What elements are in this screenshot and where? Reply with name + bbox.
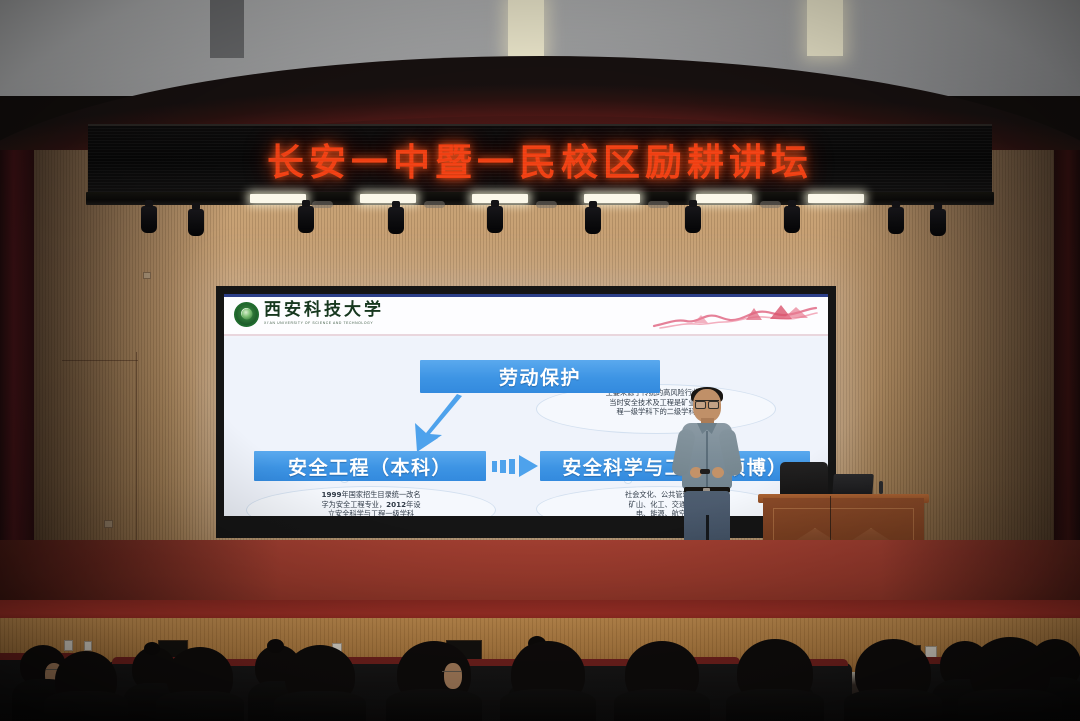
arrow-down-left-icon — [404, 393, 470, 455]
truss-clamp-3 — [536, 201, 557, 208]
truss-led-strip-5 — [696, 194, 752, 203]
callout-bl-line3: 立安全科学与工程一级学科 — [246, 509, 496, 516]
truss-clamp-2 — [424, 201, 445, 208]
callout-bl-line1-rest: 年国家招生目录统一改名 — [341, 490, 420, 499]
callout-br-line1: 社会文化、公共管理、 — [536, 490, 786, 500]
ceiling-light-slot-dark — [210, 0, 244, 58]
led-banner-text: 长安一中暨一民校区励耕讲坛 — [267, 132, 813, 186]
slide-box-safety-engineering: 安全工程（本科） — [254, 451, 486, 481]
stage-spotlight-10 — [930, 209, 946, 236]
mountain-landscape-icon — [650, 302, 818, 332]
wall-switch-left-2 — [84, 641, 92, 651]
university-emblem-icon — [234, 302, 259, 327]
presenter-clicker-remote — [700, 469, 710, 474]
presenter-glasses-icon — [695, 400, 719, 406]
audience-body — [958, 689, 1062, 721]
truss-led-strip-2 — [360, 194, 416, 203]
truss-led-strip-6 — [808, 194, 864, 203]
audience-face — [444, 663, 462, 689]
stage-chair — [780, 462, 828, 498]
truss-clamp-1 — [312, 201, 333, 208]
podium-microphone — [879, 481, 883, 494]
ceiling-light-slot-1 — [508, 0, 544, 56]
audience-glasses-icon — [442, 671, 462, 674]
stage-spotlight-1 — [141, 206, 157, 233]
callout-bl-line1: 1999年国家招生目录统一改名 — [246, 490, 496, 500]
callout-bl-line2: 字为安全工程专业，2012年设 — [246, 500, 496, 510]
callout-bl-year-1999: 1999 — [321, 490, 341, 499]
audience-member — [500, 641, 596, 721]
stage-spotlight-8 — [784, 206, 800, 233]
callout-text-bottom-right: 社会文化、公共管理、 矿山、化工、交通、 电、能源、航空 — [536, 490, 786, 516]
university-name: 西安科技大学 — [264, 302, 384, 319]
stage-spotlight-3 — [298, 206, 314, 233]
audience-body — [614, 689, 710, 721]
audience-member — [726, 639, 824, 721]
callout-bl-line2c: 年设 — [406, 500, 420, 509]
truss-clamp-5 — [760, 201, 781, 208]
audience-body — [156, 691, 244, 721]
auditorium-photo: 长安一中暨一民校区励耕讲坛 西安科技大学 XI'AN UNIVERSITY OF — [0, 0, 1080, 721]
callout-bl-year-2012: 2012 — [386, 500, 406, 509]
slide-box-labor-protection: 劳动保护 — [420, 360, 660, 393]
audience-member — [844, 639, 942, 721]
presenter-hand-right — [712, 467, 724, 478]
led-banner: 长安一中暨一民校区励耕讲坛 — [88, 124, 992, 192]
stage-spotlight-9 — [888, 207, 904, 234]
audience-member — [274, 645, 366, 721]
university-logo: 西安科技大学 XI'AN UNIVERSITY OF SCIENCE AND T… — [234, 302, 384, 327]
audience-body — [274, 691, 366, 721]
arrow-right-chevron-icon — [492, 455, 540, 477]
audience-body — [844, 689, 942, 721]
audience-body — [44, 691, 128, 721]
truss-led-strip-1 — [250, 194, 306, 203]
audience-member — [386, 641, 482, 721]
university-subtitle: XI'AN UNIVERSITY OF SCIENCE AND TECHNOLO… — [264, 322, 384, 325]
audience-body — [726, 689, 824, 721]
presenter-shirt-placket — [706, 431, 708, 487]
truss-led-strip-3 — [472, 194, 528, 203]
slide-header: 西安科技大学 XI'AN UNIVERSITY OF SCIENCE AND T… — [224, 294, 828, 336]
stage-spotlight-7 — [685, 206, 701, 233]
stage-spotlight-4 — [388, 207, 404, 234]
callout-text-bottom-left: 1999年国家招生目录统一改名 字为安全工程专业，2012年设 立安全科学与工程… — [246, 490, 496, 516]
audience-member — [614, 641, 710, 721]
stage-spotlight-2 — [188, 209, 204, 236]
audience-member — [44, 651, 128, 721]
slide-header-accent-bar — [224, 294, 828, 297]
callout-br-line3: 电、能源、航空 — [536, 509, 786, 516]
ceiling-light-slot-2 — [807, 0, 843, 56]
callout-bl-line2a: 字为安全工程专业， — [321, 500, 386, 509]
stage-spotlight-6 — [585, 207, 601, 234]
callout-br-line2: 矿山、化工、交通、 — [536, 500, 786, 510]
audience-body — [386, 689, 482, 721]
stage-spotlight-5 — [487, 206, 503, 233]
truss-clamp-4 — [648, 201, 669, 208]
audience-body — [500, 689, 596, 721]
audience-member — [156, 647, 244, 721]
audience-member — [958, 637, 1062, 721]
